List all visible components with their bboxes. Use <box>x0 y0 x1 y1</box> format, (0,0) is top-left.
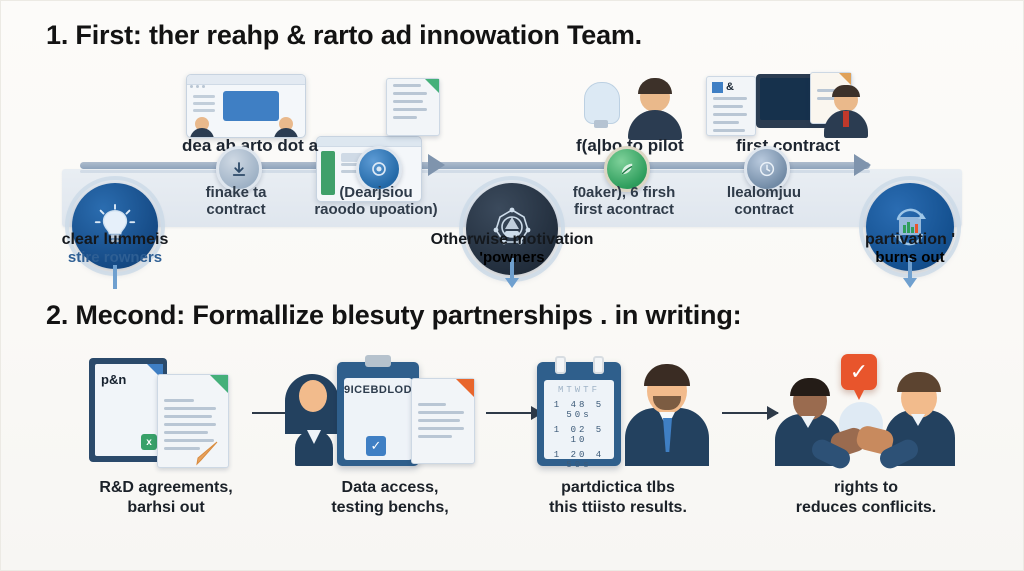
calendar-row-3: 1 20 4 50s <box>544 450 614 470</box>
caption-line2: barhsi out <box>48 498 284 518</box>
calendar-row-1: 1 48 5 50s <box>544 400 614 420</box>
clipboard-label: 9ICEBDLOD <box>344 384 412 396</box>
doc-label: p&n <box>101 372 126 387</box>
partnership-caption-2: Data access, testing benchs, <box>272 478 508 518</box>
check-icon: ✓ <box>841 354 877 390</box>
section-1-heading: 1. First: ther reahp & rarto ad innowati… <box>46 20 642 51</box>
callout-left-line2: stire rowners <box>0 249 230 267</box>
section-2-heading: 2. Mecond: Formallize blesuty partnershi… <box>46 300 741 331</box>
caption-line2: this ttiisto results. <box>500 498 736 518</box>
innovation-timeline: & dea ab arto dot a f(a|bo to pilot firs… <box>0 62 1024 277</box>
calendar-ring-2 <box>593 356 604 374</box>
callout-center-line2: 'powners <box>397 249 627 267</box>
calendar-ring-1 <box>555 356 566 374</box>
callout-arrow-2 <box>505 278 519 288</box>
caption-line1: rights to <box>748 478 984 498</box>
callout-left-line1: clear lummeis <box>0 230 230 249</box>
thumbnail-idea-person <box>578 76 696 138</box>
caption-line1: partdictica tlbs <box>500 478 736 498</box>
partnership-item-4: ✓ rights to reduces conflicits. <box>748 352 984 518</box>
timeline-arrow-1 <box>428 154 445 176</box>
partnership-row: p&n x <box>0 352 1024 552</box>
calendar-row-2: 1 02 5 10 <box>544 425 614 445</box>
documents-icon: p&n x <box>61 352 271 470</box>
callout-arrow-3 <box>903 278 917 288</box>
caption-line2: reduces conflicits. <box>748 498 984 518</box>
infographic-canvas: 1. First: ther reahp & rarto ad innowati… <box>0 0 1024 571</box>
partnership-item-1: p&n x <box>48 352 284 518</box>
thumbnail-team-window <box>186 74 306 138</box>
download-arrow-icon <box>230 160 248 178</box>
partnership-caption-1: R&D agreements, barhsi out <box>48 478 284 518</box>
caption-line1: Data access, <box>272 478 508 498</box>
rail-caption-2: (Dearjsiou raoodo upoation) <box>291 184 461 218</box>
calendar-businessman-icon: MTWTF 1 48 5 50s 1 02 5 10 1 20 4 50s <box>513 352 723 470</box>
callout-right-line1: partivation ' <box>795 230 1024 249</box>
handshake-approved-icon: ✓ <box>761 352 971 470</box>
partnership-item-3: MTWTF 1 48 5 50s 1 02 5 10 1 20 4 50s pa… <box>500 352 736 518</box>
pen-icon <box>187 440 221 466</box>
calendar-header: MTWTF <box>544 385 614 395</box>
callout-connector-1 <box>113 265 117 289</box>
leaf-icon <box>618 160 636 178</box>
clipboard-clip <box>365 355 391 367</box>
timeline-arrow-2 <box>854 154 871 176</box>
partnership-caption-4: rights to reduces conflicits. <box>748 478 984 518</box>
callout-left: clear lummeis stire rowners <box>0 230 230 267</box>
thumbnail-doc-green <box>386 78 440 136</box>
partnership-item-2: 9ICEBDLOD ✓ Data access, testing benc <box>272 352 508 518</box>
rail-caption-4: lIealomjuu contract <box>679 184 849 218</box>
callout-right-line2: burns out <box>795 249 1024 267</box>
caption-line1: R&D agreements, <box>48 478 284 498</box>
caption-line2: testing benchs, <box>272 498 508 518</box>
target-icon <box>370 160 388 178</box>
person-clipboard-icon: 9ICEBDLOD ✓ <box>285 352 495 470</box>
callout-center: Otherwise motivation 'powners <box>397 230 627 267</box>
partnership-caption-3: partdictica tlbs this ttiisto results. <box>500 478 736 518</box>
callout-center-line1: Otherwise motivation <box>397 230 627 249</box>
callout-right: partivation ' burns out <box>795 230 1024 267</box>
thumbnail-contract-monitor: & <box>706 70 866 140</box>
clock-icon <box>758 160 776 178</box>
